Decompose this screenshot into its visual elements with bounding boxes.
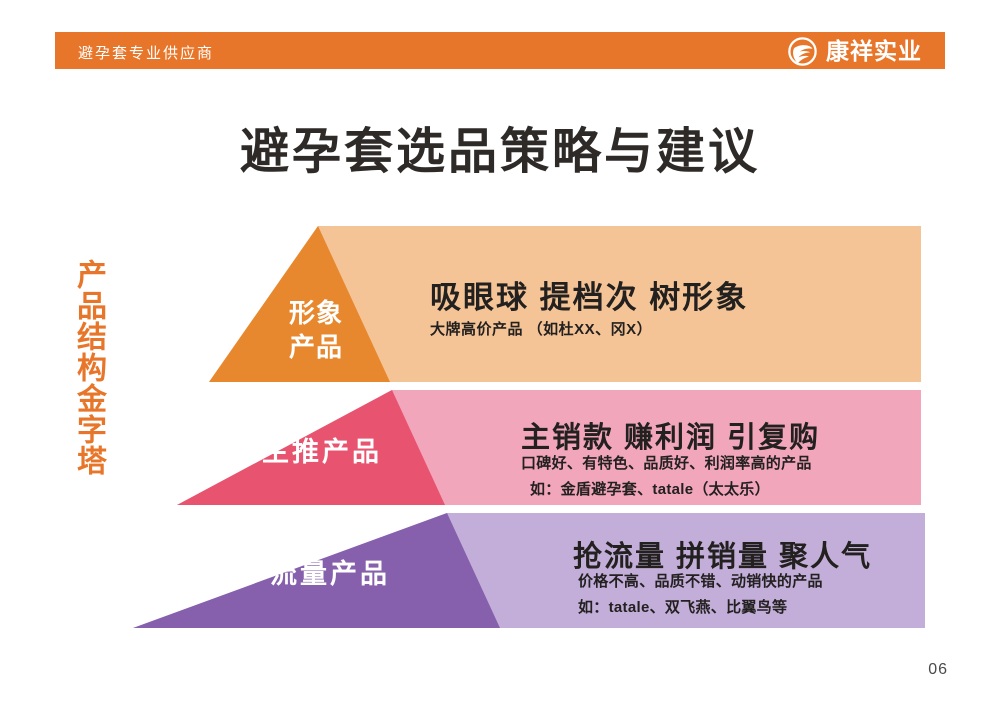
page-title: 避孕套选品策略与建议 [0,112,1000,183]
tier-3-subline-1: 价格不高、品质不错、动销快的产品 [578,570,823,591]
tier-2-headline: 主销款 赚利润 引复购 [521,414,820,456]
tier-3-subline-2: 如：tatale、双飞燕、比翼鸟等 [578,596,787,617]
tier-2-subline-1: 口碑好、有特色、品质好、利润率高的产品 [521,452,812,473]
header-tagline: 避孕套专业供应商 [78,42,214,63]
page-number: 06 [928,661,948,679]
swirl-leaf-circle-icon [788,37,817,66]
tier-2-label: 主推产品 [232,430,412,469]
pyramid-caption: 产品结构金字塔 [58,222,108,512]
tier-1-headline: 吸眼球 提档次 树形象 [430,272,748,317]
brand-block: 康祥实业 [788,36,922,66]
tier-1-subline-1: 大牌高价产品 （如杜XX、冈X） [430,318,652,339]
tier-2-subline-2: 如：金盾避孕套、tatale（太太乐） [530,478,770,499]
pyramid-diagram [0,0,1000,719]
tier-3-headline: 抢流量 拼销量 聚人气 [573,533,872,575]
brand-name: 康祥实业 [826,40,922,63]
tier-1-label: 形象 产品 [262,297,370,365]
slide-canvas: 避孕套专业供应商 康祥实业 避孕套选品策略与建议 产品结构金字塔 形象 产品 吸… [0,0,1000,719]
tier-3-label: 流量产品 [240,552,420,591]
